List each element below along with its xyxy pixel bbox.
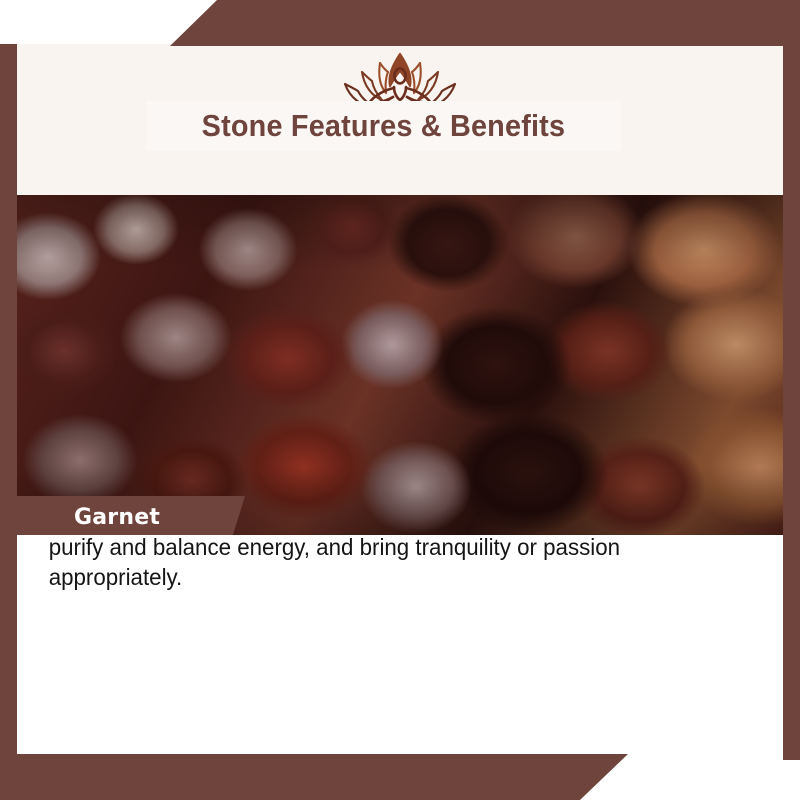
left-decorative-border	[0, 44, 17, 756]
stone-name-banner: Garnet	[17, 496, 245, 535]
hero-shade-overlay	[17, 195, 783, 535]
stone-info-poster: BUDDHA STONES Garnet ★ Purification ★ Pr…	[0, 0, 800, 800]
page-title-plate: Stone Features & Benefits	[146, 101, 621, 151]
stone-hero-image: Garnet	[17, 195, 783, 535]
top-decorative-band	[0, 0, 800, 46]
bottom-decorative-band	[0, 754, 800, 800]
page-title: Stone Features & Benefits	[202, 108, 566, 144]
right-decorative-border	[783, 0, 800, 760]
stone-name-label: Garnet	[17, 505, 160, 530]
